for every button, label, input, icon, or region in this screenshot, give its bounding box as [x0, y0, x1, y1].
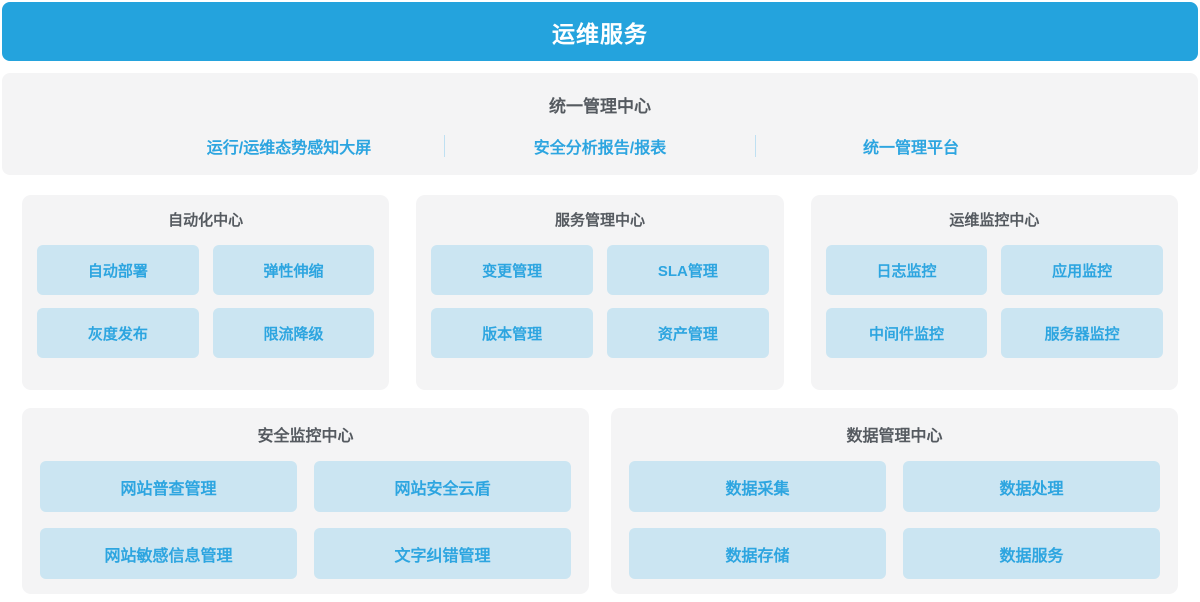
- panel-title: 自动化中心: [168, 209, 243, 230]
- tile-data-collection[interactable]: 数据采集: [629, 461, 886, 512]
- panel-title: 运维监控中心: [949, 209, 1039, 230]
- unified-management-center-panel: 统一管理中心 运行/运维态势感知大屏 安全分析报告/报表 统一管理平台: [2, 73, 1198, 175]
- panel-ops-monitoring-center: 运维监控中心 日志监控 应用监控 中间件监控 服务器监控: [811, 195, 1178, 390]
- panel-service-management-center: 服务管理中心 变更管理 SLA管理 版本管理 资产管理: [416, 195, 783, 390]
- tile-change-management[interactable]: 变更管理: [431, 245, 593, 295]
- panel-title: 服务管理中心: [555, 209, 645, 230]
- tile-grid: 网站普查管理 网站安全云盾 网站敏感信息管理 文字纠错管理: [40, 461, 571, 579]
- tile-website-security-cloud-shield[interactable]: 网站安全云盾: [314, 461, 571, 512]
- mgmt-link-unified-management-platform[interactable]: 统一管理平台: [756, 134, 1066, 158]
- tile-elastic-scaling[interactable]: 弹性伸缩: [213, 245, 375, 295]
- bottom-panel-row: 安全监控中心 网站普查管理 网站安全云盾 网站敏感信息管理 文字纠错管理 数据管…: [22, 408, 1178, 594]
- tile-sla-management[interactable]: SLA管理: [607, 245, 769, 295]
- tile-gray-release[interactable]: 灰度发布: [37, 308, 199, 358]
- tile-asset-management[interactable]: 资产管理: [607, 308, 769, 358]
- panel-data-management-center: 数据管理中心 数据采集 数据处理 数据存储 数据服务: [611, 408, 1178, 594]
- panel-automation-center: 自动化中心 自动部署 弹性伸缩 灰度发布 限流降级: [22, 195, 389, 390]
- banner-ops-service: 运维服务: [2, 2, 1198, 61]
- banner-title: 运维服务: [552, 15, 648, 49]
- tile-website-sensitive-info-management[interactable]: 网站敏感信息管理: [40, 528, 297, 579]
- mgmt-link-security-analysis-report[interactable]: 安全分析报告/报表: [445, 134, 755, 158]
- tile-application-monitoring[interactable]: 应用监控: [1001, 245, 1163, 295]
- tile-website-census-management[interactable]: 网站普查管理: [40, 461, 297, 512]
- panel-title: 数据管理中心: [846, 422, 942, 446]
- tile-version-management[interactable]: 版本管理: [431, 308, 593, 358]
- panel-title: 安全监控中心: [257, 422, 353, 446]
- tile-middleware-monitoring[interactable]: 中间件监控: [826, 308, 988, 358]
- tile-server-monitoring[interactable]: 服务器监控: [1001, 308, 1163, 358]
- middle-panel-row: 自动化中心 自动部署 弹性伸缩 灰度发布 限流降级 服务管理中心 变更管理 SL…: [22, 195, 1178, 390]
- tile-rate-limit-degrade[interactable]: 限流降级: [213, 308, 375, 358]
- tile-grid: 变更管理 SLA管理 版本管理 资产管理: [431, 245, 768, 358]
- tile-grid: 日志监控 应用监控 中间件监控 服务器监控: [826, 245, 1163, 358]
- tile-text-proofreading-management[interactable]: 文字纠错管理: [314, 528, 571, 579]
- tile-log-monitoring[interactable]: 日志监控: [826, 245, 988, 295]
- panel-security-monitoring-center: 安全监控中心 网站普查管理 网站安全云盾 网站敏感信息管理 文字纠错管理: [22, 408, 589, 594]
- tile-data-service[interactable]: 数据服务: [903, 528, 1160, 579]
- unified-management-center-title: 统一管理中心: [2, 73, 1198, 117]
- unified-management-center-links: 运行/运维态势感知大屏 安全分析报告/报表 统一管理平台: [2, 134, 1198, 158]
- tile-grid: 数据采集 数据处理 数据存储 数据服务: [629, 461, 1160, 579]
- tile-auto-deploy[interactable]: 自动部署: [37, 245, 199, 295]
- ops-service-architecture-diagram: 运维服务 统一管理中心 运行/运维态势感知大屏 安全分析报告/报表 统一管理平台…: [0, 0, 1200, 602]
- tile-data-storage[interactable]: 数据存储: [629, 528, 886, 579]
- mgmt-link-situational-awareness-screen[interactable]: 运行/运维态势感知大屏: [134, 134, 444, 158]
- tile-data-processing[interactable]: 数据处理: [903, 461, 1160, 512]
- tile-grid: 自动部署 弹性伸缩 灰度发布 限流降级: [37, 245, 374, 358]
